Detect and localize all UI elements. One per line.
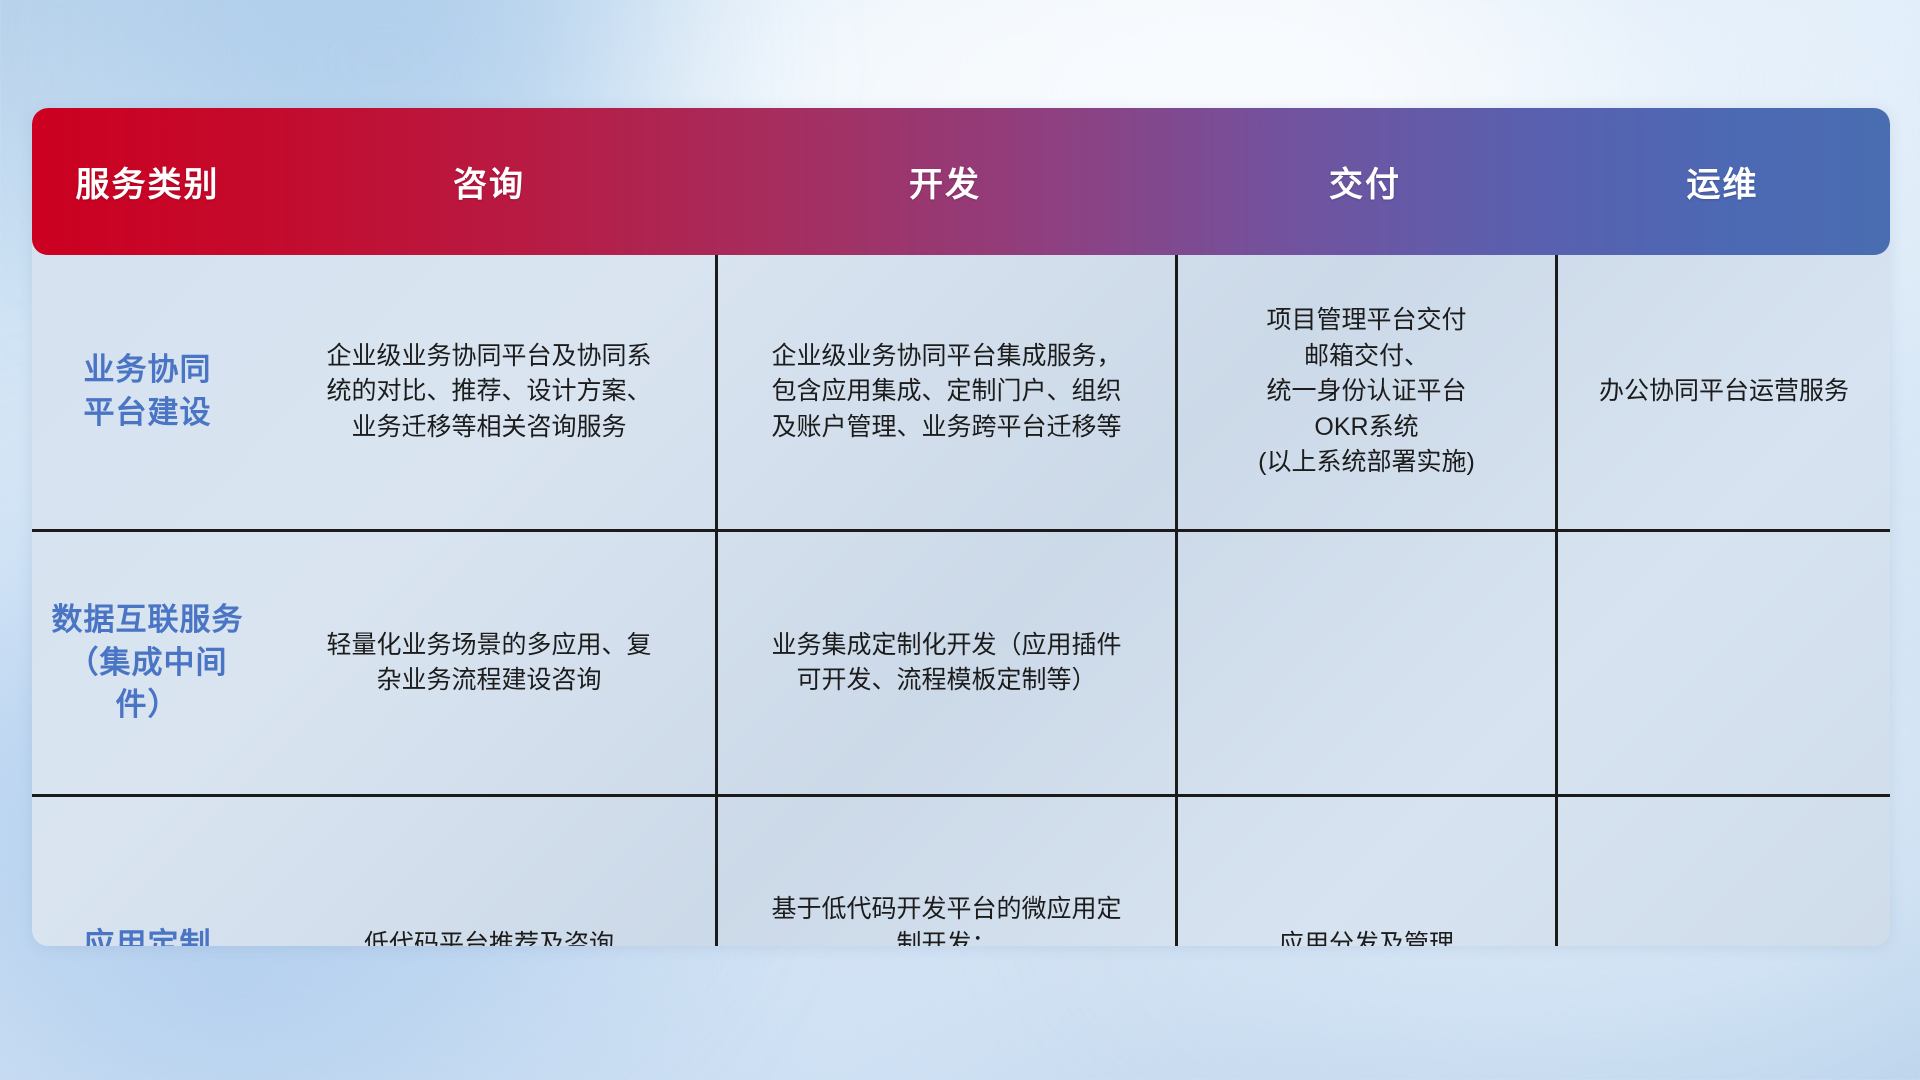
cell-category-row1: 业务协同 平台建设	[32, 255, 263, 529]
column-header-development: 开发	[715, 108, 1175, 255]
cell-development-row1: 企业级业务协同平台集成服务， 包含应用集成、定制门户、组织 及账户管理、业务跨平…	[715, 255, 1175, 529]
cell-delivery-row3: 应用分发及管理	[1175, 797, 1555, 946]
column-header-operations: 运维	[1555, 108, 1890, 255]
cell-development-row2: 业务集成定制化开发（应用插件 可开发、流程模板定制等）	[715, 532, 1175, 794]
column-header-service-category: 服务类别	[32, 108, 263, 255]
cell-delivery-row1: 项目管理平台交付 邮箱交付、 统一身份认证平台 OKR系统 (以上系统部署实施)	[1175, 255, 1555, 529]
table-row: 数据互联服务 （集成中间件） 轻量化业务场景的多应用、复 杂业务流程建设咨询 业…	[32, 532, 1890, 797]
cell-operations-row1: 办公协同平台运营服务	[1555, 255, 1890, 529]
cell-category-row2: 数据互联服务 （集成中间件）	[32, 532, 263, 794]
table-row: 应用定制 低代码平台推荐及咨询 基于低代码开发平台的微应用定 制开发； 基于通过…	[32, 797, 1890, 946]
cell-operations-row2	[1555, 532, 1890, 794]
column-header-delivery: 交付	[1175, 108, 1555, 255]
cell-category-row3: 应用定制	[32, 797, 263, 946]
service-matrix-table: 服务类别 咨询 开发 交付 运维 业务协同 平台建设 企业级业务协同平台及协同系…	[32, 108, 1890, 946]
cell-operations-row3	[1555, 797, 1890, 946]
cell-consulting-row3: 低代码平台推荐及咨询	[263, 797, 715, 946]
cell-development-row3: 基于低代码开发平台的微应用定 制开发； 基于通过语言的微应用定制开发	[715, 797, 1175, 946]
table-row: 业务协同 平台建设 企业级业务协同平台及协同系 统的对比、推荐、设计方案、 业务…	[32, 255, 1890, 532]
cell-consulting-row1: 企业级业务协同平台及协同系 统的对比、推荐、设计方案、 业务迁移等相关咨询服务	[263, 255, 715, 529]
table-body: 业务协同 平台建设 企业级业务协同平台及协同系 统的对比、推荐、设计方案、 业务…	[32, 255, 1890, 946]
column-header-consulting: 咨询	[263, 108, 715, 255]
cell-delivery-row2	[1175, 532, 1555, 794]
cell-consulting-row2: 轻量化业务场景的多应用、复 杂业务流程建设咨询	[263, 532, 715, 794]
table-header-row: 服务类别 咨询 开发 交付 运维	[32, 108, 1890, 255]
